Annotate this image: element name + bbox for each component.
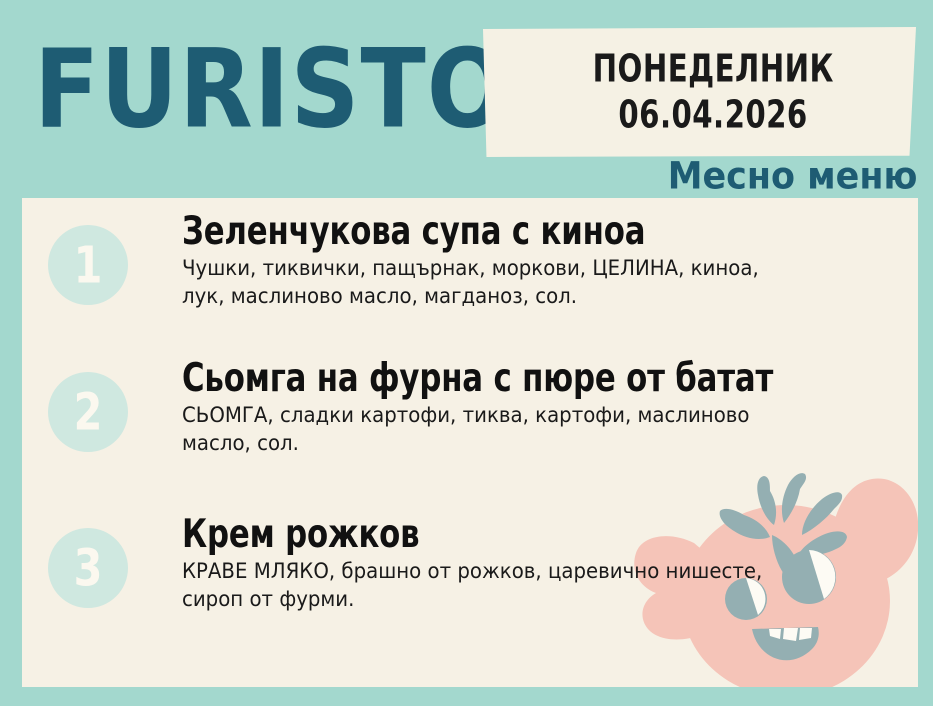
menu-item-badge: 1 [48,225,128,305]
menu-kind-label: Месно меню [667,154,917,200]
menu-item: 1 Зеленчукова супа с киноа Чушки, тиквич… [48,207,898,310]
menu-item-title: Зеленчукова супа с киноа [182,207,812,256]
menu-item-description: Чушки, тиквички, пащърнак, моркови, ЦЕЛИ… [182,254,784,310]
date-card: ПОНЕДЕЛНИК 06.04.2026 [483,27,916,157]
menu-item-description: СЬОМГА, сладки картофи, тиква, картофи, … [182,401,784,457]
menu-item-badge: 3 [48,528,128,608]
menu-item-number: 2 [74,387,103,438]
menu-item-body: Зеленчукова супа с киноа Чушки, тиквички… [182,207,898,310]
menu-item: 3 Крем рожков КРАВЕ МЛЯКО, брашно от рож… [48,510,898,613]
weekday-label: ПОНЕДЕЛНИК [593,44,834,93]
menu-item-badge: 2 [48,372,128,452]
menu-item-number: 1 [74,240,103,291]
menu-item-body: Сьомга на фурна с пюре от батат СЬОМГА, … [182,354,898,457]
menu-panel: 1 Зеленчукова супа с киноа Чушки, тиквич… [22,198,918,687]
menu-poster: FURISTO ПОНЕДЕЛНИК 06.04.2026 Месно меню [0,0,933,706]
menu-item-body: Крем рожков КРАВЕ МЛЯКО, брашно от рожко… [182,510,898,613]
menu-item-number: 3 [74,543,103,594]
menu-item-list: 1 Зеленчукова супа с киноа Чушки, тиквич… [22,198,918,687]
menu-item-title: Сьомга на фурна с пюре от батат [182,354,812,403]
date-label: 06.04.2026 [619,90,808,139]
date-card-inner: ПОНЕДЕЛНИК 06.04.2026 [483,27,916,157]
menu-item-title: Крем рожков [182,510,812,559]
menu-item-description: КРАВЕ МЛЯКО, брашно от рожков, царевично… [182,557,784,613]
brand-logo: FURISTO [34,25,481,155]
menu-item: 2 Сьомга на фурна с пюре от батат СЬОМГА… [48,354,898,457]
